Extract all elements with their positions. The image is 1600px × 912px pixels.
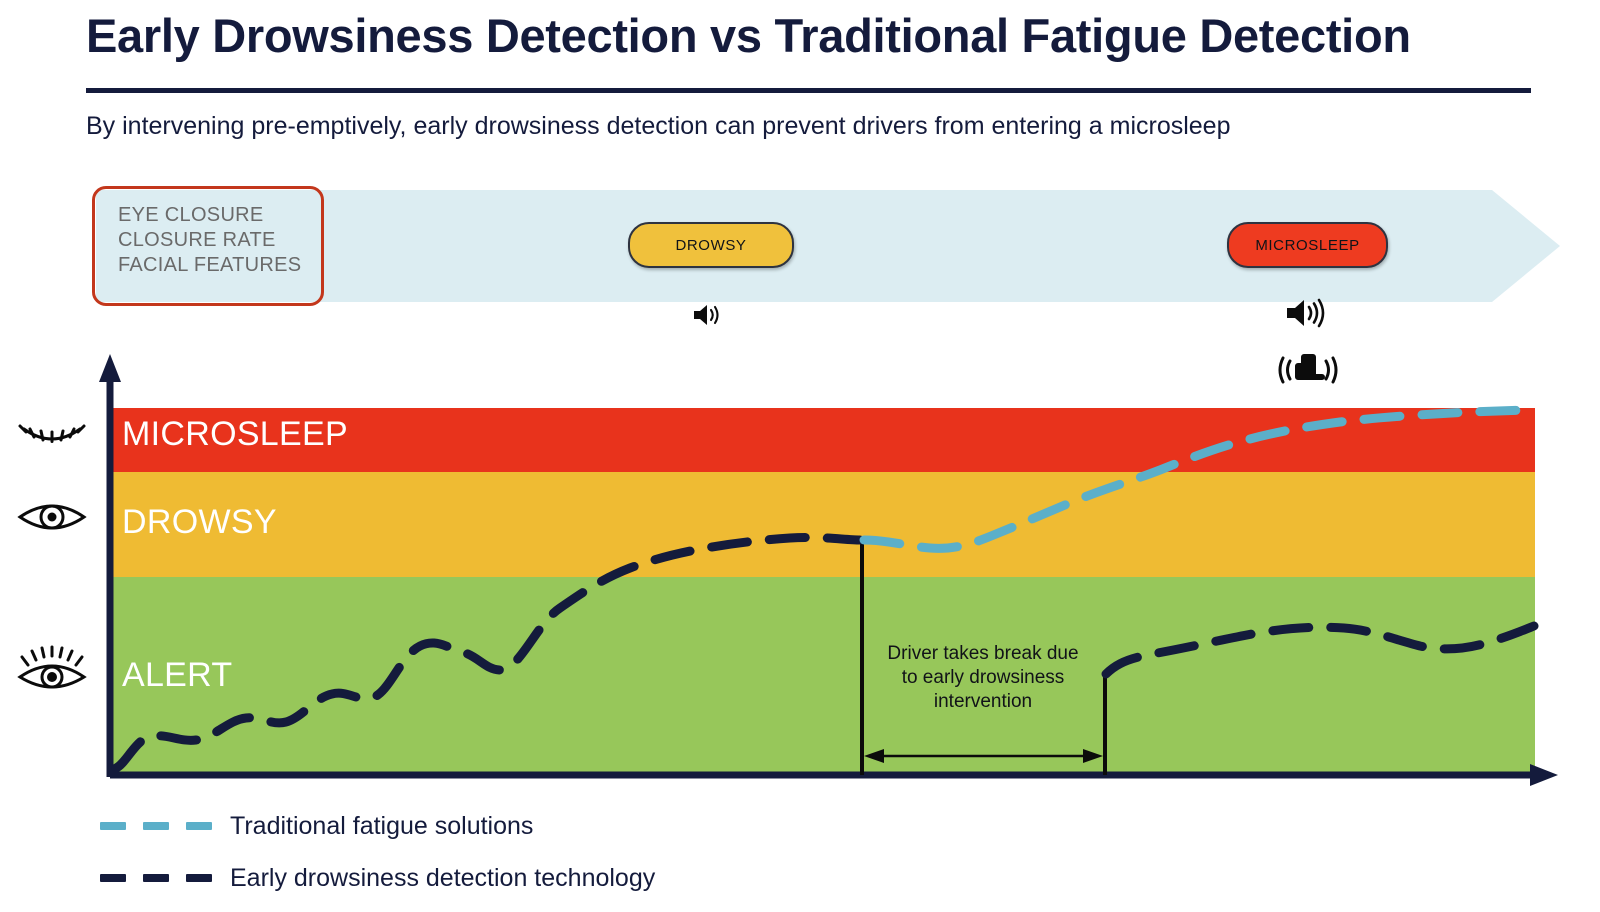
y-axis-arrowhead bbox=[99, 354, 121, 382]
page-subtitle: By intervening pre-emptively, early drow… bbox=[86, 112, 1536, 141]
page-title: Early Drowsiness Detection vs Traditiona… bbox=[86, 8, 1536, 63]
speaker-icon bbox=[690, 300, 724, 335]
legend-swatch-early-detection bbox=[100, 874, 212, 882]
drowsiness-chart: MICROSLEEP DROWSY ALERT Driv bbox=[0, 340, 1600, 800]
signal-inputs-text: EYE CLOSURE CLOSURE RATE FACIAL FEATURES bbox=[118, 203, 318, 278]
legend-item-traditional: Traditional fatigue solutions bbox=[100, 800, 1000, 852]
break-arrow-right-head bbox=[1083, 749, 1103, 763]
title-divider bbox=[86, 88, 1531, 93]
infographic-root: Early Drowsiness Detection vs Traditiona… bbox=[0, 0, 1600, 912]
x-axis-arrowhead bbox=[1530, 764, 1558, 786]
chart-svg bbox=[0, 340, 1600, 800]
series-traditional-fatigue bbox=[864, 410, 1534, 548]
status-badge-microsleep: MICROSLEEP bbox=[1227, 222, 1388, 268]
chart-legend: Traditional fatigue solutions Early drow… bbox=[100, 800, 1000, 904]
series-early-detection-after-break bbox=[1106, 626, 1534, 674]
break-arrow-left-head bbox=[864, 749, 884, 763]
signal-line-3: FACIAL FEATURES bbox=[118, 253, 318, 278]
signal-line-1: EYE CLOSURE bbox=[118, 203, 318, 228]
legend-item-early-detection: Early drowsiness detection technology bbox=[100, 852, 1000, 904]
series-early-detection-before-break bbox=[116, 537, 860, 768]
signal-line-2: CLOSURE RATE bbox=[118, 228, 318, 253]
legend-label-traditional: Traditional fatigue solutions bbox=[230, 812, 533, 841]
legend-swatch-traditional bbox=[100, 822, 212, 830]
status-badge-drowsy: DROWSY bbox=[628, 222, 794, 268]
legend-label-early-detection: Early drowsiness detection technology bbox=[230, 864, 655, 893]
speaker-icon bbox=[1282, 294, 1326, 337]
